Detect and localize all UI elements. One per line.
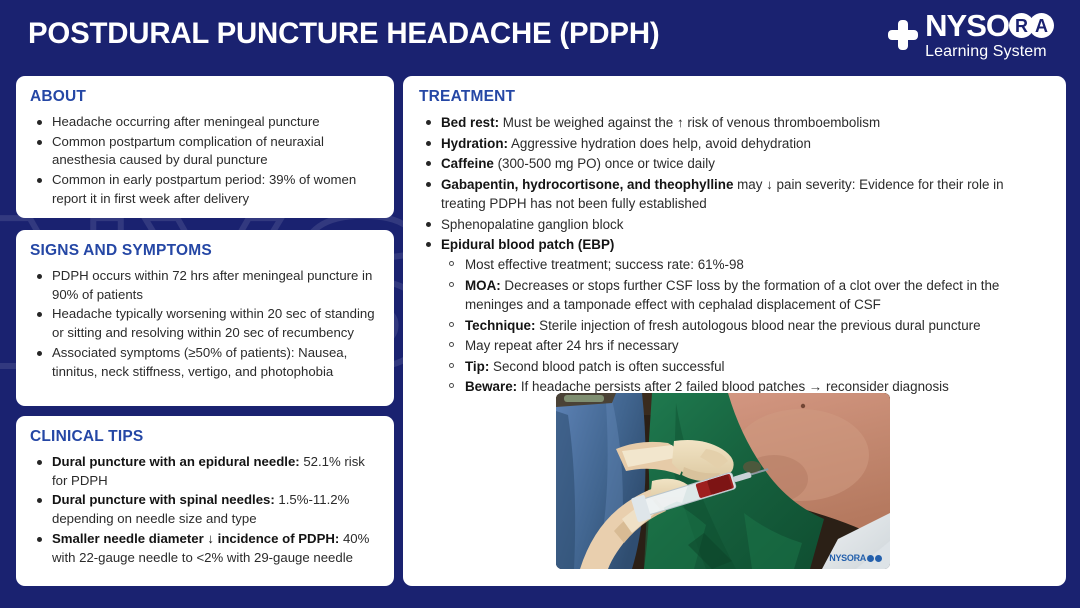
bullet-text: Headache typically worsening within 20 s… — [52, 306, 375, 340]
bullet-label: Hydration: — [441, 136, 508, 151]
bullet-label: Epidural blood patch (EBP) — [441, 237, 614, 252]
sub-list-item: Technique: Sterile injection of fresh au… — [441, 316, 1050, 336]
treatment-bullet-list: Bed rest: Must be weighed against the ↑ … — [419, 113, 1050, 397]
header-bar: POSTDURAL PUNCTURE HEADACHE (PDPH) NYSOR… — [0, 0, 1080, 70]
page-title: POSTDURAL PUNCTURE HEADACHE (PDPH) — [28, 17, 659, 51]
bullet-text: Common in early postpartum period: 39% o… — [52, 172, 356, 206]
bullet-text: Second blood patch is often successful — [489, 359, 724, 374]
bullet-label: Smaller needle diameter ↓ incidence of P… — [52, 531, 339, 546]
bullet-text: May repeat after 24 hrs if necessary — [465, 338, 679, 353]
bullet-label: Dural puncture with an epidural needle: — [52, 454, 300, 469]
bullet-text: Decreases or stops further CSF loss by t… — [465, 278, 999, 313]
tips-bullet-list: Dural puncture with an epidural needle: … — [30, 453, 380, 567]
list-item: Headache typically worsening within 20 s… — [30, 305, 380, 342]
list-item: Sphenopalatine ganglion block — [419, 215, 1050, 235]
bullet-text: Headache occurring after meningeal punct… — [52, 114, 320, 129]
logo-subtitle: Learning System — [925, 44, 1054, 60]
sub-list-item: Tip: Second blood patch is often success… — [441, 357, 1050, 377]
epidural-blood-patch-photo: NYSORA — [556, 393, 890, 569]
signs-bullet-list: PDPH occurs within 72 hrs after meningea… — [30, 267, 380, 381]
bullet-text: Common postpartum complication of neurax… — [52, 134, 324, 168]
list-item: Common postpartum complication of neurax… — [30, 133, 380, 170]
list-item: Associated symptoms (≥50% of patients): … — [30, 344, 380, 381]
list-item: Dural puncture with an epidural needle: … — [30, 453, 380, 490]
bullet-text: Must be weighed against the ↑ risk of ve… — [499, 115, 880, 130]
list-item: Hydration: Aggressive hydration does hel… — [419, 134, 1050, 154]
list-item: Epidural blood patch (EBP)Most effective… — [419, 235, 1050, 397]
list-item: Dural puncture with spinal needles: 1.5%… — [30, 491, 380, 528]
bullet-text: (300-500 mg PO) once or twice daily — [494, 156, 715, 171]
bullet-text: Sterile injection of fresh autologous bl… — [535, 318, 980, 333]
slide-root: NYSORA © POSTDURAL PUNCTURE HEADACHE (PD… — [0, 0, 1080, 608]
photo-watermark-text: NYSORA — [829, 553, 866, 563]
medical-cross-icon — [888, 20, 918, 50]
sub-list-item: Most effective treatment; success rate: … — [441, 255, 1050, 275]
sub-list-item: MOA: Decreases or stops further CSF loss… — [441, 276, 1050, 315]
bullet-label: Beware: — [465, 379, 517, 394]
card-tips-body: Dural puncture with an epidural needle: … — [30, 453, 380, 567]
logo-text-block: NYSORA Learning System — [925, 10, 1054, 60]
bullet-text: Most effective treatment; success rate: … — [465, 257, 744, 272]
card-signs-title: SIGNS AND SYMPTOMS — [30, 242, 380, 260]
bullet-label: Caffeine — [441, 156, 494, 171]
bullet-text: Aggressive hydration does help, avoid de… — [508, 136, 811, 151]
bullet-text: Sphenopalatine ganglion block — [441, 217, 623, 232]
card-treatment-title: TREATMENT — [419, 88, 1050, 106]
bullet-label: Tip: — [465, 359, 489, 374]
card-signs-body: PDPH occurs within 72 hrs after meningea… — [30, 267, 380, 381]
list-item: Smaller needle diameter ↓ incidence of P… — [30, 530, 380, 567]
bullet-label: Technique: — [465, 318, 535, 333]
card-tips-title: CLINICAL TIPS — [30, 428, 380, 446]
bullet-label: Bed rest: — [441, 115, 499, 130]
list-item: Headache occurring after meningeal punct… — [30, 113, 380, 132]
card-about-title: ABOUT — [30, 88, 380, 106]
card-clinical-tips: CLINICAL TIPS Dural puncture with an epi… — [16, 416, 394, 586]
bullet-text: Associated symptoms (≥50% of patients): … — [52, 345, 347, 379]
bullet-label: Dural puncture with spinal needles: — [52, 492, 275, 507]
bullet-text: PDPH occurs within 72 hrs after meningea… — [52, 268, 372, 302]
nysora-logo: NYSORA Learning System — [888, 10, 1054, 60]
about-bullet-list: Headache occurring after meningeal punct… — [30, 113, 380, 209]
list-item: Bed rest: Must be weighed against the ↑ … — [419, 113, 1050, 133]
sub-list-item: May repeat after 24 hrs if necessary — [441, 336, 1050, 356]
photo-watermark-dot-2 — [875, 555, 882, 562]
photo-watermark-dot-1 — [867, 555, 874, 562]
card-about: ABOUT Headache occurring after meningeal… — [16, 76, 394, 218]
bullet-label: MOA: — [465, 278, 501, 293]
list-item: PDPH occurs within 72 hrs after meningea… — [30, 267, 380, 304]
photo-illustration — [556, 393, 890, 569]
list-item: Gabapentin, hydrocortisone, and theophyl… — [419, 175, 1050, 214]
logo-name: NYSORA — [925, 10, 1054, 41]
logo-circle-a: A — [1029, 13, 1054, 38]
list-item: Caffeine (300-500 mg PO) once or twice d… — [419, 154, 1050, 174]
logo-name-prefix: NYSO — [925, 10, 1009, 41]
sub-bullet-list: Most effective treatment; success rate: … — [441, 255, 1050, 397]
card-signs-and-symptoms: SIGNS AND SYMPTOMS PDPH occurs within 72… — [16, 230, 394, 406]
bullet-label: Gabapentin, hydrocortisone, and theophyl… — [441, 177, 733, 192]
list-item: Common in early postpartum period: 39% o… — [30, 171, 380, 208]
card-treatment: TREATMENT Bed rest: Must be weighed agai… — [403, 76, 1066, 586]
card-about-body: Headache occurring after meningeal punct… — [30, 113, 380, 209]
card-treatment-body: Bed rest: Must be weighed against the ↑ … — [419, 113, 1050, 397]
photo-watermark: NYSORA — [829, 553, 882, 563]
